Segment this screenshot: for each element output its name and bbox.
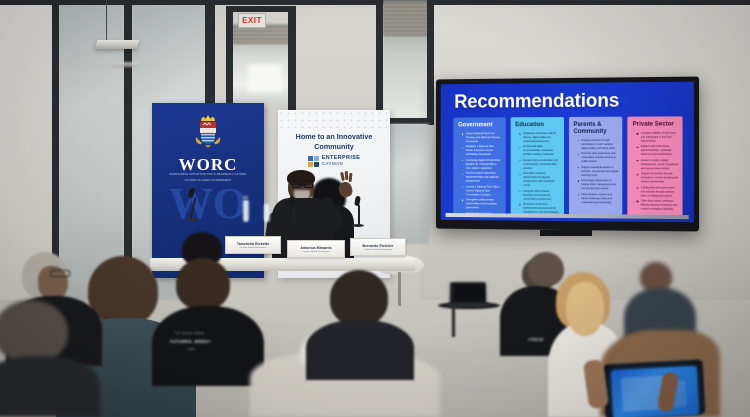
- door-frame-right: [288, 6, 296, 116]
- body: [0, 356, 100, 417]
- logo-line-2: CAYMAN: [322, 162, 360, 167]
- laptop-table-leg: [452, 307, 455, 337]
- column-bullet-list: Engage parents through workshops on tech…: [573, 139, 618, 205]
- exit-sign: EXIT: [238, 13, 266, 28]
- doorway-blinds: [232, 26, 290, 44]
- bullet: Fund & expand internships, apprenticeshi…: [463, 172, 502, 184]
- bullet: Establish a National Tech Sector Council…: [463, 145, 502, 157]
- worc-wordmark: WORC: [152, 155, 264, 175]
- enterprise-cayman-mark-icon: [308, 156, 319, 167]
- eyeglasses-icon: [50, 270, 70, 277]
- bullet: Modernise curriculum with AI literacy, d…: [520, 132, 559, 144]
- cayman-crest-icon: [193, 115, 223, 151]
- microphone-base-3: [352, 224, 364, 227]
- laptop-screen: [454, 284, 486, 302]
- bottle-cap-1: [243, 196, 248, 199]
- bullet: Promote tech awareness and exploration o…: [578, 152, 618, 164]
- slide-title: Recommendations: [454, 91, 619, 114]
- laptop-base: [448, 303, 490, 307]
- column-heading: Parents & Community: [573, 122, 618, 136]
- shirt-text-futures-line2: FUTURES_WEEK>: [170, 339, 211, 344]
- bullet: Integrate career-based teaching and stru…: [520, 189, 559, 201]
- head: [0, 300, 68, 362]
- column-heading: Education: [515, 122, 559, 129]
- head: [528, 252, 564, 286]
- body: [152, 306, 264, 386]
- banner-headline-line2: Community: [284, 142, 384, 152]
- name-placard-3: Bernardo Fletcher Cayman Islands Governm…: [350, 238, 406, 256]
- enterprise-cayman-wordmark: ENTERPRISE CAYMAN: [322, 156, 360, 167]
- window-frame-4: [376, 0, 383, 125]
- corridor-blinds: [383, 2, 429, 36]
- photo-scene: EXIT Recommendations Government Create N…: [0, 0, 750, 417]
- column-bullet-list: Create National Tech & AI Strategy and N…: [458, 132, 501, 214]
- banner-dot-pattern: [278, 110, 390, 128]
- bullet: Encourage participation in coding clubs,…: [578, 179, 618, 191]
- slide-column-government: Government Create National Tech & AI Str…: [453, 117, 505, 214]
- bullet: Create National Tech & AI Strategy and N…: [463, 132, 502, 144]
- shirt-text-futures-line3: 2025: [188, 348, 195, 351]
- hair-highlight: [566, 282, 604, 336]
- pendant-light-cord: [106, 0, 107, 42]
- banner-headline: Home to an Innovative Community: [284, 132, 384, 151]
- column-heading: Private Sector: [633, 121, 679, 128]
- bullet: Increase visibility of tech roles and pa…: [638, 132, 679, 144]
- presentation-display: Recommendations Government Create Nation…: [436, 77, 699, 232]
- bullet: Support innovation through incubators, v…: [638, 172, 679, 184]
- bullet: Invest in modern digital infrastructure,…: [638, 159, 679, 171]
- doorway-light-glare: [248, 64, 282, 92]
- tv-stand: [540, 230, 592, 236]
- bullet: Offer clear career pathways, lifelong le…: [638, 200, 679, 213]
- window-frame-5: [427, 0, 434, 125]
- placard-name: Tamchelia Ricketts: [237, 242, 269, 246]
- body: [306, 320, 414, 380]
- column-bullet-list: Increase visibility of tech roles and pa…: [633, 132, 679, 213]
- shirt-text-futures-line1: The Cayman Islands: [175, 332, 204, 335]
- column-heading: Government: [458, 122, 501, 129]
- bullet: Expand paid internships, apprenticeships…: [638, 145, 679, 157]
- shirt-text-tech: <TECH: [528, 337, 543, 342]
- slide-column-parents-community: Parents & Community Engage parents throu…: [568, 117, 622, 216]
- placard-role: Cayman Islands Government: [240, 247, 267, 249]
- panelist-1-glasses-icon: [292, 181, 311, 186]
- bullet: Help students explore tech career pathwa…: [578, 193, 618, 205]
- ceiling-edge: [0, 0, 750, 5]
- handheld-phone-screen: [611, 366, 699, 417]
- bullet: Collaborate with government and schools …: [638, 186, 679, 198]
- head: [330, 270, 388, 326]
- slide-columns: Government Create National Tech & AI Str…: [453, 116, 682, 216]
- bullet: Accelerate digital infrastructure (Engli…: [463, 159, 502, 171]
- bullet: Expand micro-credentials in AI, cybersec…: [520, 159, 559, 171]
- column-bullet-list: Modernise curriculum with AI literacy, d…: [515, 132, 559, 215]
- water-bottle-2: [264, 204, 270, 222]
- microphone-base-1: [186, 218, 198, 221]
- bullet: Embed soft skills: communication, teamwo…: [520, 145, 559, 157]
- placard-role: Cayman Islands Government: [303, 251, 330, 253]
- head: [176, 258, 230, 310]
- side-table-leg: [398, 272, 401, 306]
- slide-column-private-sector: Private Sector Increase visibility of te…: [628, 116, 683, 216]
- slide-column-education: Education Modernise curriculum with AI l…: [510, 117, 563, 215]
- name-placard-1: Tamchelia Ricketts Cayman Islands Govern…: [225, 236, 281, 254]
- bullet: Support equitable access to devices, con…: [578, 166, 618, 178]
- microphone-stem-3: [358, 205, 360, 225]
- placard-role: Cayman Islands Government: [365, 249, 392, 251]
- pendant-light-fixture: [95, 40, 140, 49]
- door-frame-left: [226, 6, 233, 116]
- bullet: Launch a National Tech Talent Fund & Nat…: [463, 185, 502, 197]
- door-frame-top: [226, 6, 296, 12]
- exit-sign-label: EXIT: [242, 17, 262, 25]
- enterprise-cayman-logo: ENTERPRISE CAYMAN: [278, 156, 390, 167]
- screen-bottom-glare: [446, 213, 689, 219]
- name-placard-2: Antonius Edwards Cayman Islands Governme…: [287, 240, 345, 258]
- water-bottle-1: [243, 200, 249, 222]
- placard-name: Bernardo Fletcher: [363, 244, 394, 248]
- presentation-screen: Recommendations Government Create Nation…: [441, 82, 694, 223]
- bullet: Engage parents through workshops on tech…: [578, 139, 618, 151]
- laptop-lid: [450, 282, 486, 304]
- microphone-stem-2: [293, 205, 295, 223]
- worc-subtitle-1: WORKFORCE OPPORTUNITIES & RESIDENCY CAYM…: [152, 173, 264, 177]
- bullet: Strengthen public-private partnerships a…: [463, 198, 502, 210]
- audience-laptop: [448, 282, 488, 308]
- bullet: Strengthen industry partnerships for ali…: [520, 172, 559, 188]
- placard-name: Antonius Edwards: [300, 246, 331, 250]
- pendant-light-reflection: [111, 62, 138, 67]
- banner-headline-line1: Home to an Innovative: [284, 132, 384, 142]
